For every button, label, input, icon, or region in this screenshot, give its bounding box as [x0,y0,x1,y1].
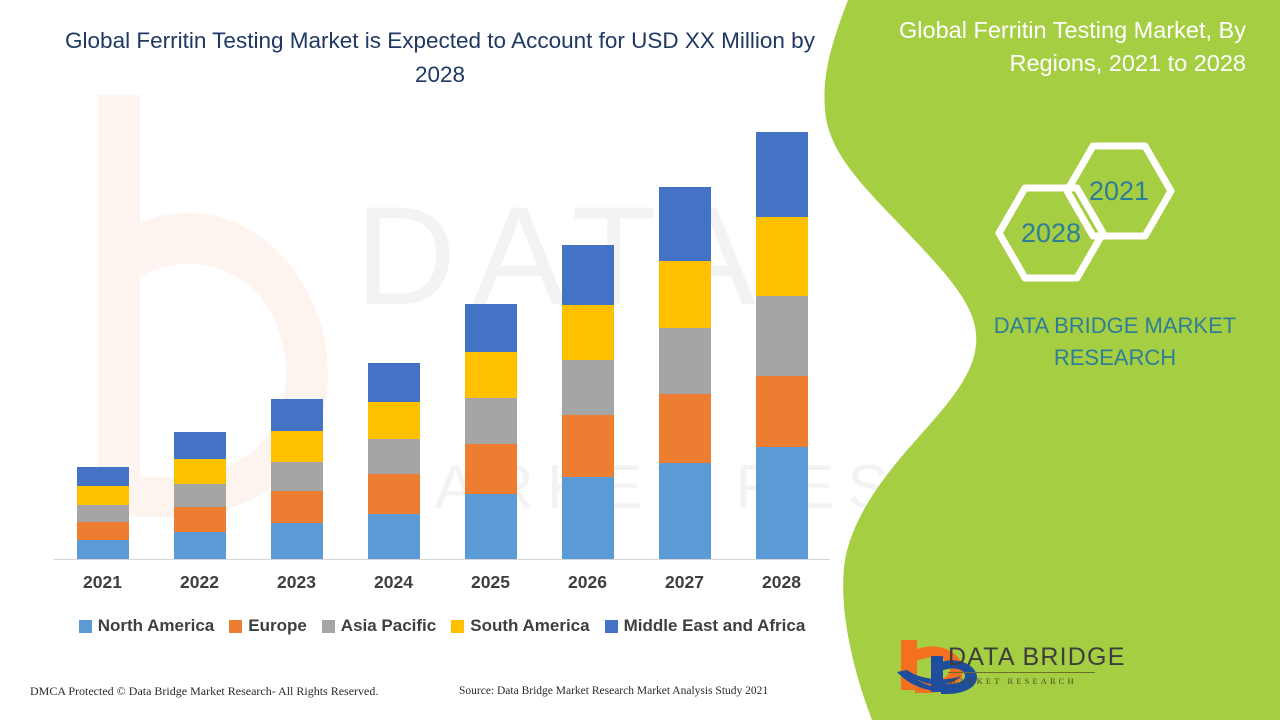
x-tick-2028: 2028 [737,572,827,593]
bar-segment [77,540,129,560]
logo-wordmark: DATA BRIDGE MARKET RESEARCH [948,644,1126,686]
bar-segment [271,462,323,491]
chart-legend: North AmericaEuropeAsia PacificSouth Ame… [54,616,830,636]
bar-segment [562,415,614,477]
bar-segment [271,399,323,431]
bar-segment [368,402,420,439]
bar-segment [465,304,517,352]
bar-2027 [659,187,711,560]
legend-label: Europe [248,616,307,636]
source-note: Source: Data Bridge Market Research Mark… [459,685,768,697]
bar-2022 [174,432,226,560]
hexagon-badge-2028-label: 2028 [1021,218,1081,248]
legend-label: Asia Pacific [341,616,436,636]
bar-segment [174,484,226,507]
bar-segment [659,394,711,463]
bar-segment [756,296,808,377]
bar-2028 [756,132,808,560]
bar-segment [756,217,808,295]
bar-segment [174,459,226,484]
x-tick-2026: 2026 [543,572,633,593]
brand-name-text: DATA BRIDGE MARKET RESEARCH [960,310,1270,374]
bar-segment [659,187,711,261]
bar-segment [174,532,226,560]
bar-segment [174,507,226,532]
bar-segment [562,360,614,415]
infographic-canvas: DATA MARKET RESEARCH Global Ferritin Tes… [0,0,1280,720]
x-tick-2023: 2023 [252,572,342,593]
x-tick-2021: 2021 [58,572,148,593]
x-axis-tick-labels: 20212022202320242025202620272028 [54,572,830,602]
bar-segment [77,486,129,504]
bar-segment [562,477,614,560]
logo-sub-text: MARKET RESEARCH [948,676,1126,686]
hexagon-year-badges: 2021 2028 [985,138,1185,288]
copyright-notice: DMCA Protected © Data Bridge Market Rese… [30,684,378,699]
legend-item-north-america[interactable]: North America [79,616,215,636]
legend-swatch-icon [79,620,92,633]
bar-2024 [368,363,420,560]
bar-segment [368,474,420,514]
bar-segment [465,494,517,560]
bar-segment [465,444,517,495]
bar-segment [271,491,323,523]
bar-segment [174,432,226,458]
legend-label: South America [470,616,589,636]
bar-segment [271,431,323,462]
legend-item-south-america[interactable]: South America [451,616,589,636]
bar-2023 [271,399,323,560]
bar-segment [659,328,711,395]
legend-item-middle-east-and-africa[interactable]: Middle East and Africa [605,616,806,636]
bar-segment [465,352,517,398]
x-axis-line [54,559,830,560]
x-tick-2027: 2027 [640,572,730,593]
x-tick-2025: 2025 [446,572,536,593]
legend-item-asia-pacific[interactable]: Asia Pacific [322,616,436,636]
legend-label: North America [98,616,215,636]
stacked-bar-chart [54,100,830,560]
bar-segment [756,376,808,447]
logo-main-text: DATA BRIDGE [948,644,1126,670]
page-title: Global Ferritin Testing Market is Expect… [60,24,820,92]
bar-segment [368,439,420,474]
legend-swatch-icon [605,620,618,633]
bar-segment [562,245,614,305]
bar-segment [271,523,323,560]
bar-segment [562,305,614,360]
bar-segment [77,522,129,540]
x-tick-2022: 2022 [155,572,245,593]
bar-2021 [77,467,129,560]
hexagon-badge-2021-label: 2021 [1089,176,1149,206]
bar-2025 [465,304,517,560]
bar-2026 [562,245,614,560]
legend-swatch-icon [451,620,464,633]
panel-heading: Global Ferritin Testing Market, By Regio… [866,14,1246,80]
x-tick-2024: 2024 [349,572,439,593]
bar-segment [368,363,420,402]
bar-segment [659,463,711,560]
bar-segment [756,447,808,560]
logo-divider [948,672,1095,673]
bar-segment [77,467,129,487]
bar-segment [77,505,129,522]
bar-segment [368,514,420,560]
bar-segment [465,398,517,444]
legend-swatch-icon [322,620,335,633]
bar-segment [756,132,808,217]
legend-item-europe[interactable]: Europe [229,616,307,636]
legend-label: Middle East and Africa [624,616,806,636]
legend-swatch-icon [229,620,242,633]
bar-segment [659,261,711,328]
